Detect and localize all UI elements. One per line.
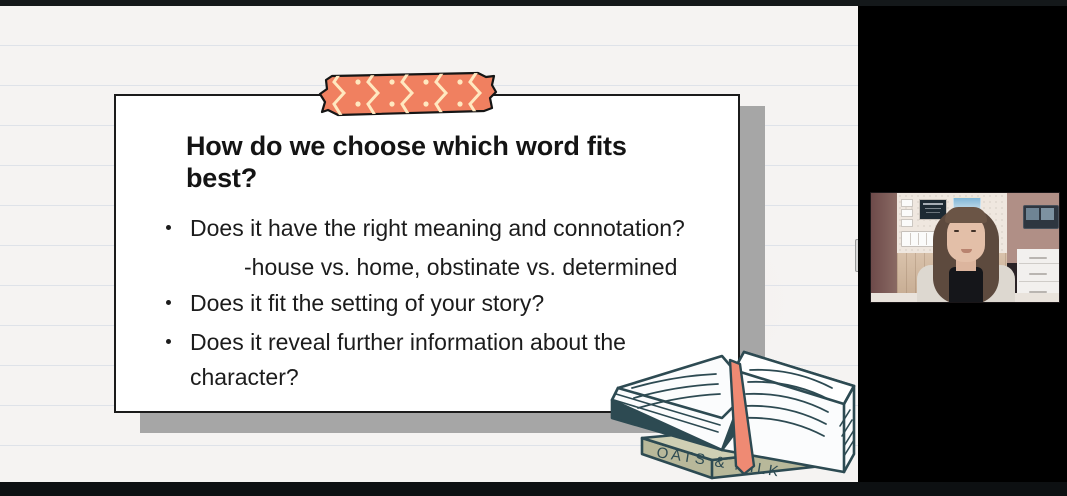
shared-slide-stage: How do we choose which word fits best? D…	[0, 6, 858, 482]
bullet-dot-icon	[166, 339, 171, 344]
cabinet-handle	[1029, 257, 1047, 259]
bottom-letterbox-bar	[0, 482, 1067, 496]
shelf-item	[901, 209, 913, 217]
presenter-video-tile[interactable]	[870, 192, 1060, 303]
slide-bullet-item: Does it have the right meaning and conno…	[152, 211, 702, 246]
slide-bullet-text: Does it reveal further information about…	[190, 329, 626, 390]
chalkboard-line	[923, 203, 943, 205]
slide-bullet-text: Does it have the right meaning and conno…	[190, 215, 685, 241]
slide-sub-example: -house vs. home, obstinate vs. determine…	[244, 250, 702, 285]
slide-bullet-text: Does it fit the setting of your story?	[190, 290, 544, 316]
shelf-item	[901, 219, 913, 227]
presenter-eye-right	[971, 230, 976, 232]
cup-holder	[901, 231, 937, 247]
bullet-dot-icon	[166, 225, 171, 230]
slide-bullet-list: Does it have the right meaning and conno…	[152, 211, 702, 246]
cup-divider	[926, 233, 927, 245]
bin-item	[1041, 208, 1054, 220]
shelf-item	[901, 199, 913, 207]
webcam-scene	[871, 193, 1059, 302]
washi-tape-icon	[318, 68, 498, 118]
cabinet-handle	[1029, 273, 1047, 275]
slide-title: How do we choose which word fits best?	[186, 130, 702, 195]
screen-share-window: How do we choose which word fits best? D…	[0, 0, 1067, 496]
cup-divider	[918, 233, 919, 245]
presenter-hair-top	[945, 207, 987, 223]
bin-item	[1026, 208, 1039, 220]
cabinet-seam	[1019, 263, 1059, 264]
slide-bullet-item: Does it fit the setting of your story?	[152, 286, 702, 321]
chalkboard-line	[925, 208, 941, 209]
wall-left	[871, 193, 897, 303]
chalkboard-line	[926, 212, 940, 213]
bullet-dot-icon	[166, 300, 171, 305]
cup-divider	[910, 233, 911, 245]
presenter-eye-left	[954, 230, 959, 232]
presenter-shirt	[949, 267, 983, 303]
storage-bin	[1023, 205, 1059, 229]
cabinet-seam	[1019, 281, 1059, 282]
stacked-books-icon: OATS & MILK	[604, 326, 858, 482]
